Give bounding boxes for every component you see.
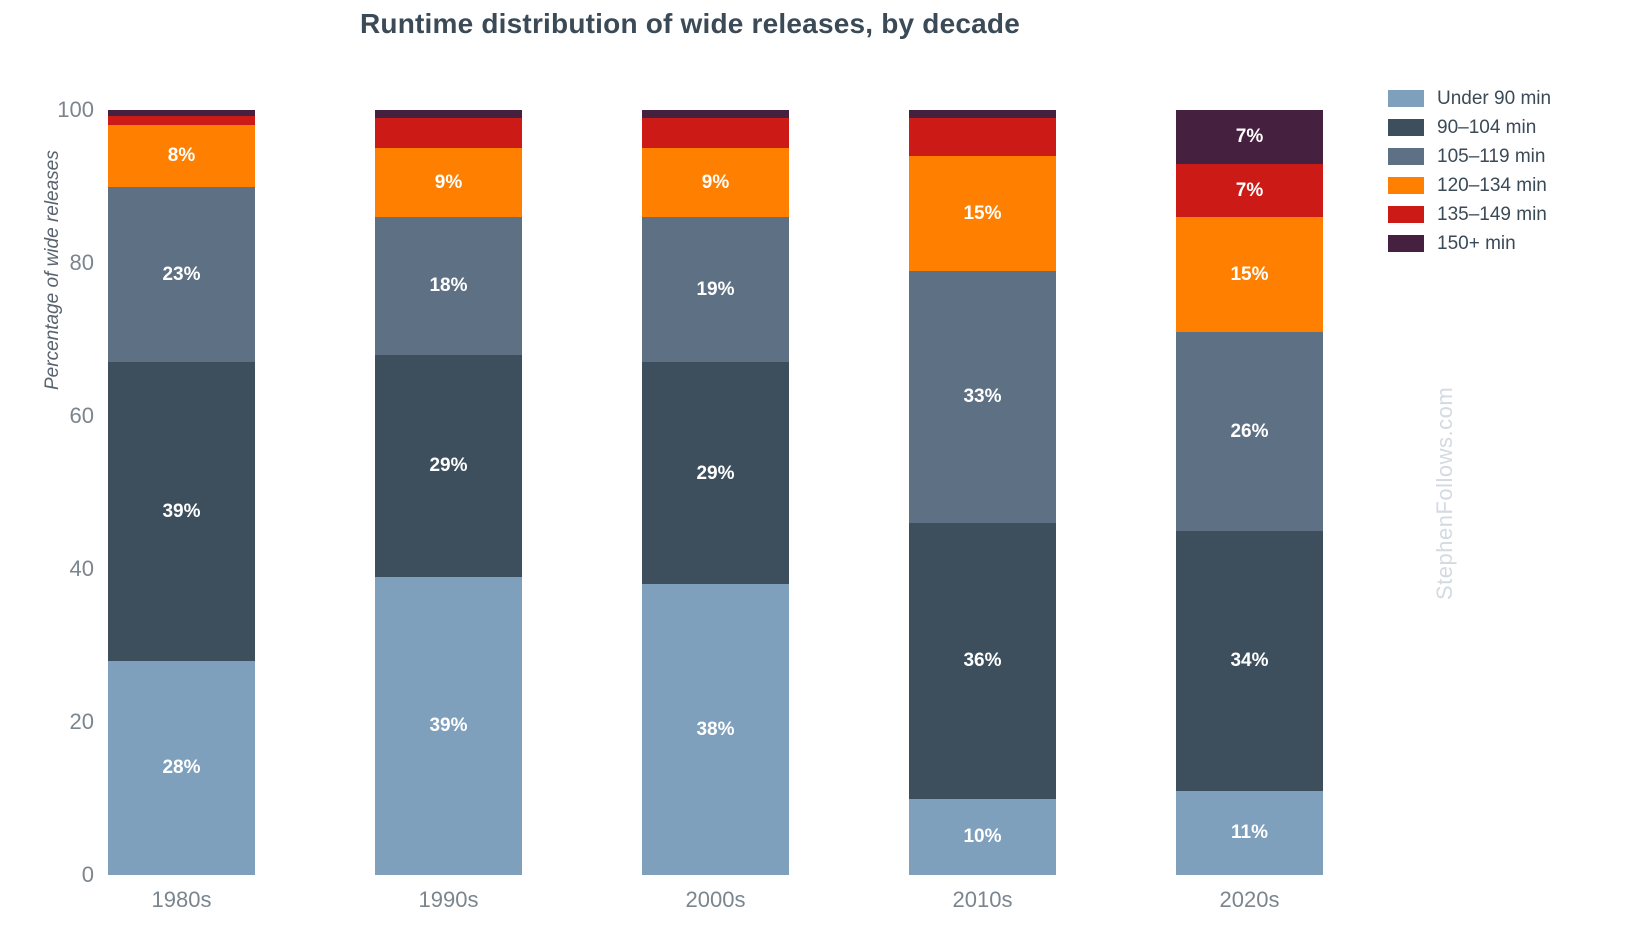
x-axis-tick: 2000s xyxy=(686,887,746,913)
y-axis-tick: 0 xyxy=(24,862,94,888)
bar-segment-label: 28% xyxy=(162,758,200,777)
bar-segment[interactable] xyxy=(642,110,789,118)
bar-group[interactable]: 10%36%33%15%2010s xyxy=(909,110,1056,875)
stacked-bar[interactable]: 39%29%18%9% xyxy=(375,110,522,875)
bar-segment[interactable] xyxy=(909,110,1056,118)
bar-segment-label: 7% xyxy=(1236,127,1263,146)
legend-label: 105–119 min xyxy=(1437,146,1545,168)
legend-item[interactable]: Under 90 min xyxy=(1388,84,1618,113)
bar-segment[interactable]: 34% xyxy=(1176,531,1323,791)
bar-segment-label: 11% xyxy=(1231,823,1268,842)
legend-color-swatch xyxy=(1388,90,1424,107)
bar-segment[interactable]: 39% xyxy=(375,577,522,875)
legend-color-swatch xyxy=(1388,177,1424,194)
bar-segment-label: 36% xyxy=(963,651,1001,670)
legend-item[interactable]: 90–104 min xyxy=(1388,113,1618,142)
legend-item[interactable]: 135–149 min xyxy=(1388,200,1618,229)
legend-color-swatch xyxy=(1388,148,1424,165)
bar-segment-label: 26% xyxy=(1230,422,1268,441)
bar-segment-label: 8% xyxy=(168,146,195,165)
bar-segment-label: 33% xyxy=(963,387,1001,406)
bar-segment[interactable]: 18% xyxy=(375,217,522,355)
bar-segment-label: 34% xyxy=(1230,651,1268,670)
legend-color-swatch xyxy=(1388,119,1424,136)
bar-segment-label: 15% xyxy=(963,204,1001,223)
bar-segment-label: 29% xyxy=(696,464,734,483)
y-axis-tick: 40 xyxy=(24,556,94,582)
stacked-bar[interactable]: 38%29%19%9% xyxy=(642,110,789,875)
bar-segment[interactable]: 36% xyxy=(909,523,1056,798)
bar-segment[interactable]: 7% xyxy=(1176,110,1323,164)
bar-segment[interactable] xyxy=(108,116,255,125)
bar-segment-label: 7% xyxy=(1236,181,1263,200)
bar-segment[interactable]: 33% xyxy=(909,271,1056,523)
chart-title: Runtime distribution of wide releases, b… xyxy=(0,8,1380,40)
bar-segment[interactable]: 28% xyxy=(108,661,255,875)
x-axis-tick: 2010s xyxy=(953,887,1013,913)
bar-segment[interactable] xyxy=(375,118,522,149)
bar-segment-label: 39% xyxy=(162,502,200,521)
legend-label: 90–104 min xyxy=(1437,117,1536,139)
legend-label: 150+ min xyxy=(1437,233,1516,255)
bar-segment[interactable]: 8% xyxy=(108,125,255,186)
bar-segment-label: 39% xyxy=(429,716,467,735)
legend-label: 135–149 min xyxy=(1437,204,1547,226)
bar-segment-label: 18% xyxy=(429,276,467,295)
bar-segment-label: 19% xyxy=(696,280,734,299)
bar-segment-label: 38% xyxy=(696,720,734,739)
bar-group[interactable]: 39%29%18%9%1990s xyxy=(375,110,522,875)
x-axis-tick: 1990s xyxy=(419,887,479,913)
bar-segment[interactable] xyxy=(909,118,1056,156)
bar-segment-label: 29% xyxy=(429,456,467,475)
stacked-bar[interactable]: 11%34%26%15%7%7% xyxy=(1176,110,1323,875)
watermark: StephenFollows.com xyxy=(1432,387,1458,600)
x-axis-tick: 2020s xyxy=(1220,887,1280,913)
y-axis-tick: 20 xyxy=(24,709,94,735)
bar-segment-label: 15% xyxy=(1230,265,1268,284)
bar-segment[interactable]: 29% xyxy=(642,362,789,584)
bar-segment-label: 10% xyxy=(963,827,1001,846)
legend-item[interactable]: 120–134 min xyxy=(1388,171,1618,200)
bar-segment-label: 23% xyxy=(162,265,200,284)
chart-container: Runtime distribution of wide releases, b… xyxy=(0,0,1626,951)
bar-segment[interactable]: 15% xyxy=(1176,217,1323,332)
bar-segment[interactable]: 9% xyxy=(375,148,522,217)
bar-segment[interactable]: 7% xyxy=(1176,164,1323,218)
x-axis-tick: 1980s xyxy=(152,887,212,913)
bar-group[interactable]: 28%39%23%8%1980s xyxy=(108,110,255,875)
bar-series-group: 28%39%23%8%1980s39%29%18%9%1990s38%29%19… xyxy=(108,110,1323,875)
legend-label: Under 90 min xyxy=(1437,88,1551,110)
legend-item[interactable]: 150+ min xyxy=(1388,229,1618,258)
bar-segment[interactable]: 38% xyxy=(642,584,789,875)
y-axis-tick: 60 xyxy=(24,403,94,429)
plot-area: Percentage of wide releases 020406080100… xyxy=(108,110,1323,875)
legend-item[interactable]: 105–119 min xyxy=(1388,142,1618,171)
y-axis-label: Percentage of wide releases xyxy=(42,0,64,390)
bar-segment[interactable] xyxy=(642,118,789,149)
stacked-bar[interactable]: 28%39%23%8% xyxy=(108,110,255,875)
y-axis-tick: 100 xyxy=(24,97,94,123)
bar-segment-label: 9% xyxy=(702,173,729,192)
bar-segment[interactable]: 10% xyxy=(909,799,1056,876)
bar-segment[interactable]: 29% xyxy=(375,355,522,577)
bar-segment[interactable]: 19% xyxy=(642,217,789,362)
bar-group[interactable]: 11%34%26%15%7%7%2020s xyxy=(1176,110,1323,875)
bar-segment[interactable]: 26% xyxy=(1176,332,1323,531)
stacked-bar[interactable]: 10%36%33%15% xyxy=(909,110,1056,875)
legend-label: 120–134 min xyxy=(1437,175,1547,197)
legend-color-swatch xyxy=(1388,206,1424,223)
y-axis-tick: 80 xyxy=(24,250,94,276)
bar-segment[interactable]: 9% xyxy=(642,148,789,217)
bar-segment[interactable]: 15% xyxy=(909,156,1056,271)
bar-segment-label: 9% xyxy=(435,173,462,192)
bar-segment[interactable]: 23% xyxy=(108,187,255,363)
chart-legend: Under 90 min90–104 min105–119 min120–134… xyxy=(1388,84,1618,258)
legend-color-swatch xyxy=(1388,235,1424,252)
bar-segment[interactable] xyxy=(375,110,522,118)
bar-group[interactable]: 38%29%19%9%2000s xyxy=(642,110,789,875)
bar-segment[interactable]: 11% xyxy=(1176,791,1323,875)
bar-segment[interactable]: 39% xyxy=(108,362,255,660)
